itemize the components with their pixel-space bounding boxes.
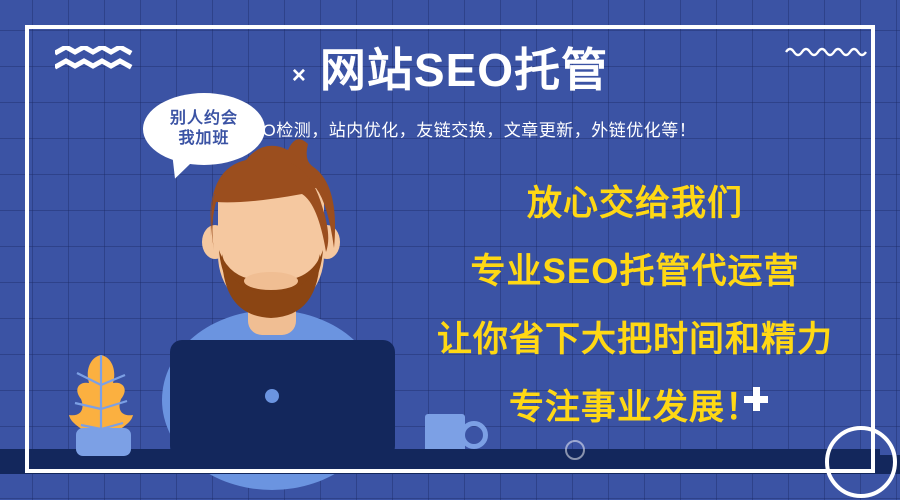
speech-bubble-line2: 我加班 [178, 129, 229, 149]
speech-bubble: 别人约会 我加班 [143, 93, 265, 165]
x-mark-icon: × [292, 64, 306, 88]
plus-icon [744, 387, 768, 411]
page-subtitle: 含：SEO检测，站内优化，友链交换，文章更新，外链优化等！ [0, 116, 900, 141]
laptop [170, 340, 395, 458]
slogan-list: 放心交给我们 专业SEO托管代运营 让你省下大把时间和精力 专注事业发展！ [400, 186, 870, 425]
plant-pot [76, 428, 131, 456]
speech-bubble-line1: 别人约会 [170, 109, 238, 129]
header-title-row: × 网站SEO托管 [0, 46, 900, 94]
laptop-logo-dot-icon [265, 389, 279, 403]
slogan-line-2: 专业SEO托管代运营 [400, 254, 870, 289]
corner-circle-icon [825, 426, 897, 498]
slogan-line-4: 专注事业发展！ [400, 390, 870, 425]
slogan-line-3: 让你省下大把时间和精力 [400, 322, 870, 357]
seo-hosting-banner: 别人约会 我加班 × 网站SEO托管 含：SEO检测，站内优化，友链交换，文章更… [0, 0, 900, 500]
page-title: 网站SEO托管 [320, 46, 608, 94]
desk [0, 455, 900, 474]
slogan-line-1: 放心交给我们 [400, 186, 870, 221]
ring-deco-icon [565, 440, 585, 460]
